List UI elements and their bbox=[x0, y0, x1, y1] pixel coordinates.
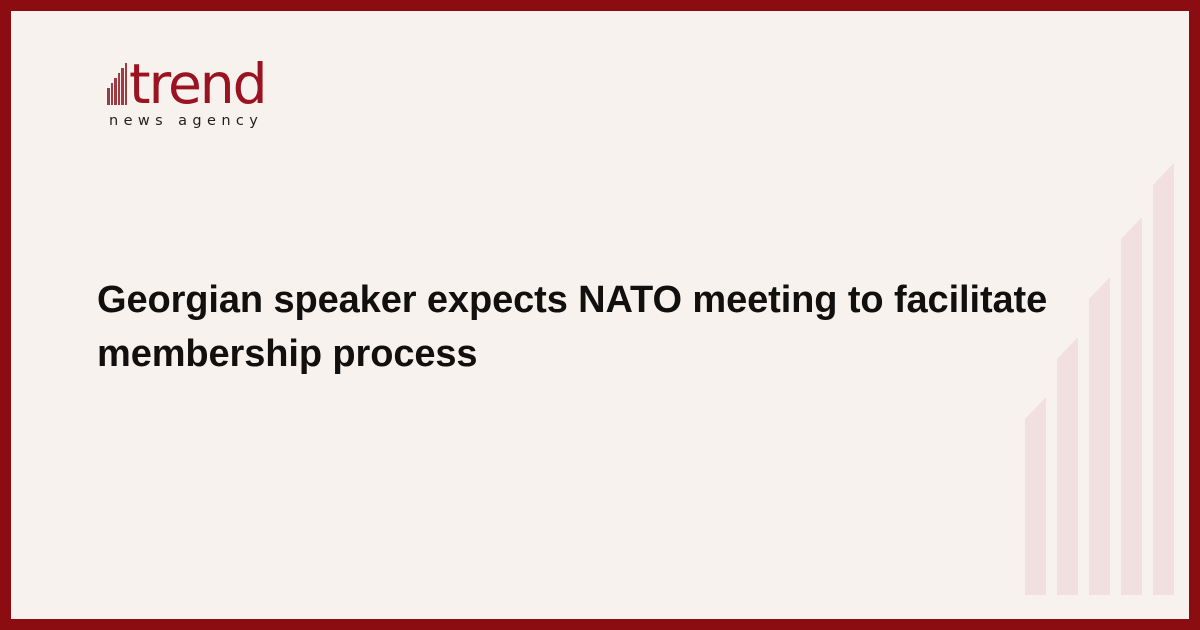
decoration-bar-1 bbox=[1025, 397, 1046, 595]
logo-mark-bar-6 bbox=[125, 63, 128, 105]
card-canvas: trend news agency Georgian speaker expec… bbox=[11, 11, 1189, 619]
logo-mark-bar-1 bbox=[107, 88, 110, 105]
trend-logo[interactable]: trend news agency bbox=[97, 51, 417, 147]
logo-wordmark: trend bbox=[129, 53, 266, 115]
decoration-bar-5 bbox=[1153, 163, 1174, 595]
logo-mark-bar-5 bbox=[121, 68, 124, 105]
headline-line-2: membership process bbox=[97, 327, 1097, 381]
logo-mark-bar-2 bbox=[111, 83, 114, 105]
headline: Georgian speaker expects NATO meeting to… bbox=[97, 273, 1097, 381]
logo-tagline: news agency bbox=[109, 113, 263, 129]
headline-line-1: Georgian speaker expects NATO meeting to… bbox=[97, 273, 1097, 327]
social-share-card: trend news agency Georgian speaker expec… bbox=[0, 0, 1200, 630]
ascending-bars-icon bbox=[107, 61, 131, 105]
decoration-bar-4 bbox=[1121, 217, 1142, 595]
logo-mark-bar-4 bbox=[118, 73, 121, 105]
logo-mark-bar-3 bbox=[114, 78, 117, 105]
